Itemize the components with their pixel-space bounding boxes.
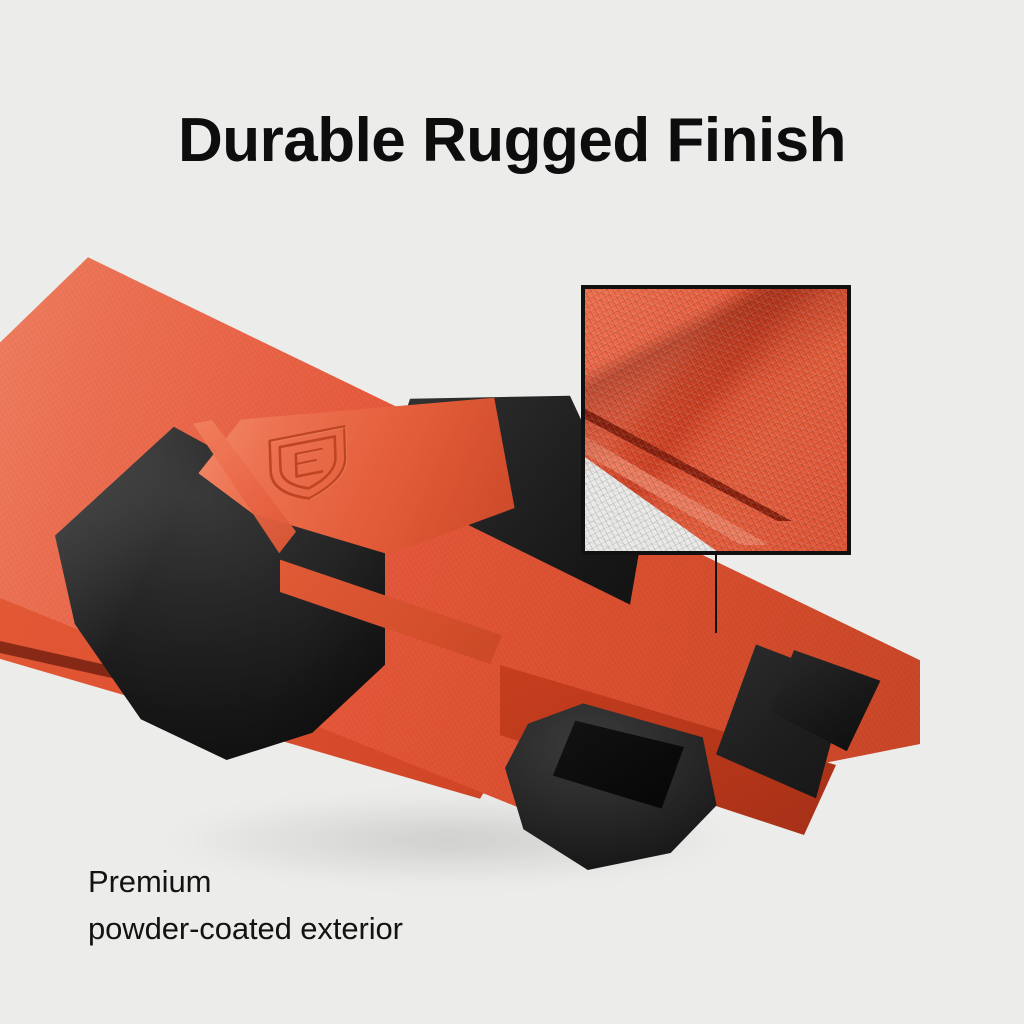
finish-detail-callout: magnified powder-coat texture: [581, 285, 851, 555]
caption-line-1: Premium: [88, 858, 403, 905]
callout-leader-line: [715, 555, 717, 633]
headline: Durable Rugged Finish: [0, 108, 1024, 173]
product-feature-card: Durable Rugged Finish magnified powder-c…: [0, 0, 1024, 1024]
caption-line-2: powder-coated exterior: [88, 905, 403, 952]
caption: Premium powder-coated exterior: [88, 858, 403, 952]
